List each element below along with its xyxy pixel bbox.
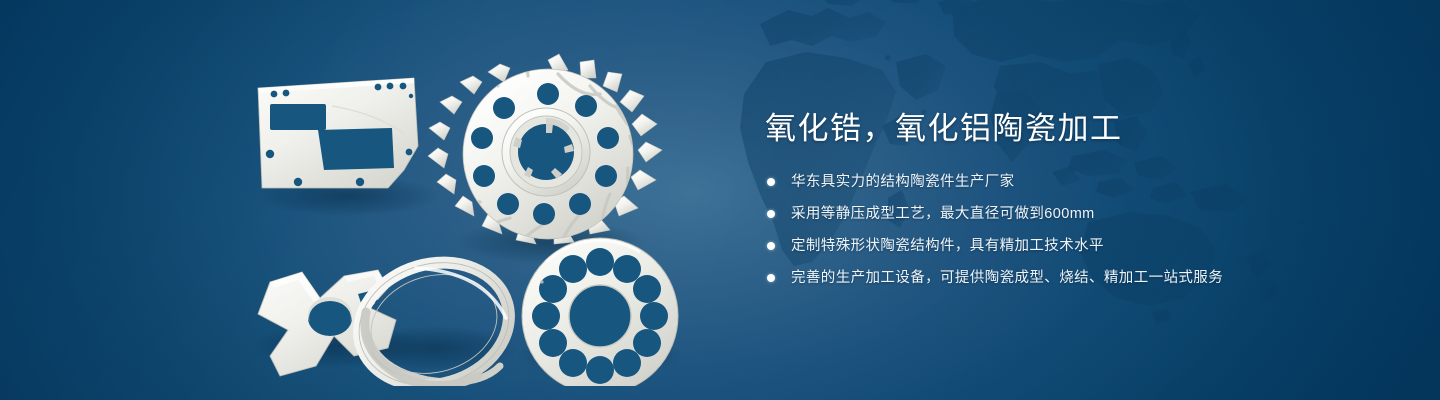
hero-banner: 氧化锆，氧化铝陶瓷加工 华东具实力的结构陶瓷件生产厂家 采用等静压成型工艺，最大… (0, 0, 1440, 400)
ceramic-products-image (228, 36, 708, 386)
bullet-dot-icon (767, 178, 775, 186)
bullet-dot-icon (767, 242, 775, 250)
list-item: 采用等静压成型工艺，最大直径可做到600mm (767, 202, 1385, 226)
bullet-text: 定制特殊形状陶瓷结构件，具有精加工技术水平 (791, 238, 1104, 254)
bullet-dot-icon (767, 274, 775, 282)
bullet-dot-icon (767, 210, 775, 218)
list-item: 完善的生产加工设备，可提供陶瓷成型、烧结、精加工一站式服务 (767, 266, 1385, 290)
bullet-text: 华东具实力的结构陶瓷件生产厂家 (791, 174, 1015, 190)
ceramic-plate-part (258, 78, 418, 188)
ceramic-impeller-part (422, 48, 662, 246)
bullet-text: 完善的生产加工设备，可提供陶瓷成型、烧结、精加工一站式服务 (791, 270, 1223, 286)
banner-copy-block: 氧化锆，氧化铝陶瓷加工 华东具实力的结构陶瓷件生产厂家 采用等静压成型工艺，最大… (765, 108, 1385, 298)
page-title: 氧化锆，氧化铝陶瓷加工 (765, 108, 1385, 150)
ceramic-perforated-disc-part (522, 238, 678, 386)
list-item: 华东具实力的结构陶瓷件生产厂家 (767, 170, 1385, 194)
feature-bullet-list: 华东具实力的结构陶瓷件生产厂家 采用等静压成型工艺，最大直径可做到600mm 定… (767, 170, 1385, 290)
list-item: 定制特殊形状陶瓷结构件，具有精加工技术水平 (767, 234, 1385, 258)
bullet-text: 采用等静压成型工艺，最大直径可做到600mm (791, 206, 1095, 222)
